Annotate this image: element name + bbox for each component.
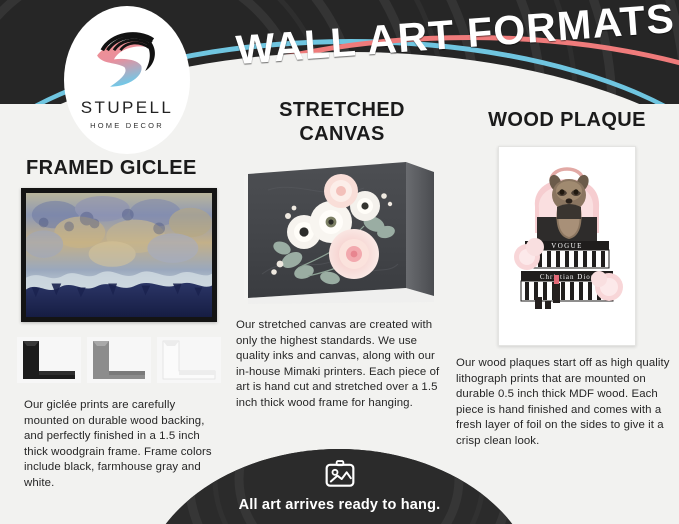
yorkie-puppy-in-pink-handbag-fashion-books-art: VOGUE Christian Dior (499, 147, 635, 345)
abstract-blue-gold-landscape-art (26, 193, 212, 317)
svg-text:VOGUE: VOGUE (551, 242, 583, 250)
wood-plaque-heading: WOOD PLAQUE (456, 108, 678, 132)
stretched-canvas-artwork (238, 156, 446, 306)
framed-giclee-artwork (21, 188, 217, 322)
stretched-canvas-heading-line1: STRETCHED (236, 98, 448, 122)
svg-text:Christian Dior: Christian Dior (540, 273, 594, 281)
logo-wordmark: STUPELL (81, 98, 173, 118)
stupell-swoosh-icon (88, 24, 166, 96)
logo-tagline: HOME DECOR (90, 121, 164, 130)
white-roses-on-charcoal-canvas-art (238, 156, 446, 306)
black-frame-swatch (17, 337, 81, 383)
stretched-canvas-heading-line2: CANVAS (236, 122, 448, 146)
framed-giclee-heading: FRAMED GICLEE (8, 156, 230, 180)
section-stretched-canvas: STRETCHED CANVAS (236, 98, 448, 412)
section-framed-giclee: FRAMED GICLEE (8, 156, 230, 492)
wall-art-formats-infographic: WALL ART FORMATS STUPELL HOME DECOR (0, 0, 679, 524)
stretched-canvas-description: Our stretched canvas are created with on… (236, 318, 444, 412)
framed-picture-icon (323, 459, 357, 489)
farmhouse-gray-frame-swatch (87, 337, 151, 383)
footer-tagline: All art arrives ready to hang. (0, 497, 679, 513)
section-wood-plaque: WOOD PLAQUE (456, 108, 678, 450)
wood-plaque-artwork: VOGUE Christian Dior (498, 146, 636, 346)
white-frame-swatch (157, 337, 221, 383)
frame-color-swatches (17, 336, 221, 384)
stupell-logo: STUPELL HOME DECOR (64, 6, 190, 154)
wood-plaque-description: Our wood plaques start off as high quali… (456, 356, 670, 450)
